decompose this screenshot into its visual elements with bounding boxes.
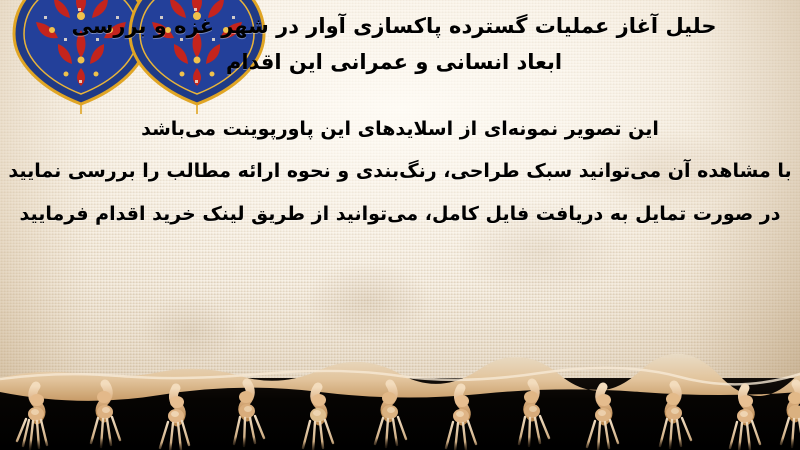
slide-title-line-2: ابعاد انسانی و عمرانی این اقدام — [0, 44, 800, 80]
slide-body-line-3: در صورت تمایل به دریافت فایل کامل، می‌تو… — [0, 203, 800, 225]
slide-body-line-1: این تصویر نمونه‌ای از اسلایدهای این پاور… — [0, 118, 800, 140]
slide-text-layer: حلیل آغاز عملیات گسترده پاکسازی آوار در … — [0, 0, 800, 392]
slide-title: حلیل آغاز عملیات گسترده پاکسازی آوار در … — [0, 8, 800, 80]
presentation-slide: حلیل آغاز عملیات گسترده پاکسازی آوار در … — [0, 0, 800, 450]
slide-title-line-1: حلیل آغاز عملیات گسترده پاکسازی آوار در … — [72, 14, 717, 38]
slide-body-line-2: با مشاهده آن می‌توانید سبک طراحی، رنگ‌بن… — [0, 160, 800, 182]
